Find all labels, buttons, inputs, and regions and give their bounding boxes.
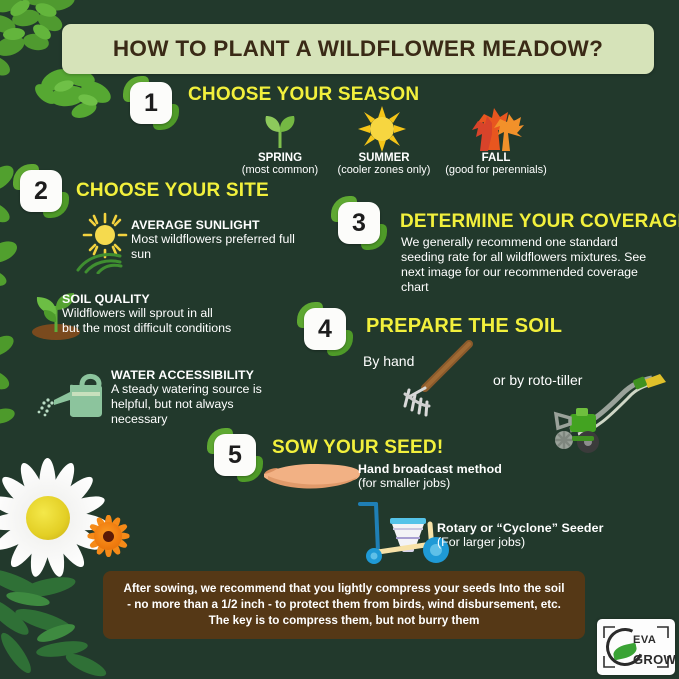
step4-method-b-label: or by roto-tiller — [493, 372, 582, 388]
season-name: SPRING — [232, 152, 328, 164]
season-name: SUMMER — [326, 152, 442, 164]
step-number-3: 3 — [338, 202, 380, 244]
maple-leaves-icon — [468, 108, 524, 152]
sun-icon — [358, 106, 406, 152]
season-detail: (good for perennials) — [436, 164, 556, 176]
step-number-1: 1 — [130, 82, 172, 124]
marigold-flower — [86, 514, 130, 558]
step-title-3: DETERMINE YOUR COVERAGE — [400, 211, 679, 233]
step-title-4: PREPARE THE SOIL — [366, 315, 562, 338]
step-badge-2: 2 — [18, 168, 64, 214]
marigold-core — [103, 531, 114, 542]
season-detail: (most common) — [232, 164, 328, 176]
step-number-2: 2 — [20, 170, 62, 212]
step-badge-4: 4 — [302, 306, 348, 352]
infographic-canvas: HOW TO PLANT A WILDFLOWER MEADOW? 1 CHOO… — [0, 0, 679, 679]
step-body-3: We generally recommend one standard seed… — [401, 235, 659, 295]
seedling-icon — [258, 108, 302, 150]
brand-logo[interactable]: EVA GROW — [597, 619, 675, 675]
method-heading-rotary: Rotary or “Cyclone” Seeder — [437, 521, 604, 535]
season-caption-summer: SUMMER (cooler zones only) — [326, 152, 442, 176]
footer-line-3: The key is to compress them, but not bur… — [209, 614, 480, 627]
season-caption-fall: FALL (good for perennials) — [436, 152, 556, 176]
step-badge-1: 1 — [128, 80, 174, 126]
footer-line-1: After sowing, we recommend that you ligh… — [124, 582, 565, 595]
item-body-sunlight: Most wildflowers preferred full sun — [131, 232, 316, 262]
step-badge-5: 5 — [212, 432, 258, 478]
season-detail: (cooler zones only) — [326, 164, 442, 176]
logo-word-top: EVA — [633, 634, 656, 646]
open-hand-icon — [258, 456, 366, 496]
rake-icon — [395, 340, 485, 420]
sun-over-field-icon — [74, 212, 136, 274]
page-title: HOW TO PLANT A WILDFLOWER MEADOW? — [113, 36, 603, 62]
item-heading-water: WATER ACCESSIBILITY — [111, 368, 254, 382]
step4-method-a-label: By hand — [363, 353, 414, 369]
item-heading-sunlight: AVERAGE SUNLIGHT — [131, 218, 260, 232]
step-badge-3: 3 — [336, 200, 382, 246]
item-heading-soil: SOIL QUALITY — [62, 292, 150, 306]
step-number-5: 5 — [214, 434, 256, 476]
watering-can-icon — [36, 372, 108, 418]
season-name: FALL — [436, 152, 556, 164]
daisy-center — [26, 496, 70, 540]
foliage-left-lower — [0, 330, 48, 440]
method-detail-rotary: (For larger jobs) — [437, 535, 617, 550]
item-body-water: A steady watering source is helpful, but… — [111, 382, 291, 427]
step-number-4: 4 — [304, 308, 346, 350]
logo-wordmark: EVA GROW — [633, 631, 676, 666]
footer-line-2: - no more than a 1/2 inch - to protect t… — [127, 598, 561, 611]
method-heading-hand: Hand broadcast method — [358, 462, 502, 476]
season-caption-spring: SPRING (most common) — [232, 152, 328, 176]
step-title-1: CHOOSE YOUR SEASON — [188, 84, 419, 106]
logo-word-bottom: GROW — [633, 653, 676, 666]
step-title-5: SOW YOUR SEED! — [272, 437, 443, 459]
step-title-2: CHOOSE YOUR SITE — [76, 180, 269, 202]
item-body-soil: Wildflowers will sprout in all but the m… — [62, 306, 232, 336]
footer-note: After sowing, we recommend that you ligh… — [103, 571, 585, 639]
method-detail-hand: (for smaller jobs) — [358, 476, 528, 491]
page-title-banner: HOW TO PLANT A WILDFLOWER MEADOW? — [62, 24, 654, 74]
